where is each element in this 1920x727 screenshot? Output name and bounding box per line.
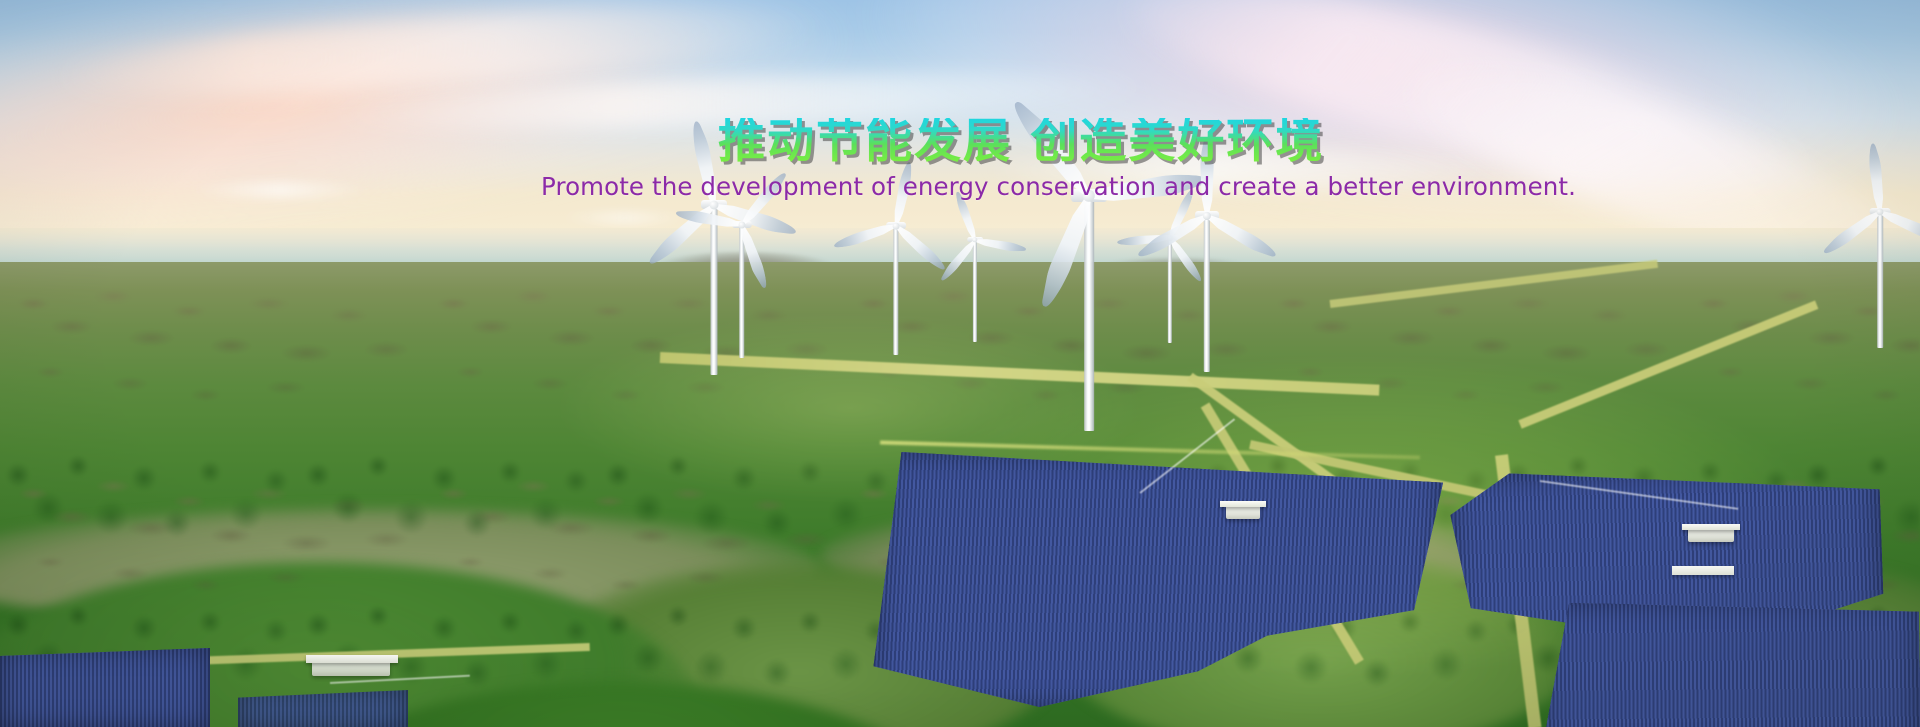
building-roof	[1220, 501, 1266, 507]
cloud-wisp	[560, 212, 690, 224]
turbine-tower	[1204, 216, 1210, 372]
solar-array-left-edge	[0, 648, 210, 727]
building-roof	[1682, 524, 1740, 530]
substation-building-center	[1226, 505, 1260, 519]
turbine-tower	[739, 225, 744, 358]
solar-array-right-lower	[1539, 597, 1920, 727]
building-roof	[306, 655, 398, 663]
turbine-tower	[1084, 196, 1094, 431]
turbine-hub	[893, 223, 900, 230]
turbine-tower	[711, 205, 718, 375]
turbine-tower	[893, 226, 898, 355]
cloud-wisp	[190, 182, 370, 198]
turbine-tower	[1168, 238, 1172, 343]
turbine-tower	[973, 240, 977, 342]
hero-banner: 推动节能发展 创造美好环境 Promote the development of…	[0, 0, 1920, 727]
turbine-hub	[710, 201, 719, 210]
canopy-structure-right	[1672, 566, 1734, 575]
page-subtitle-english: Promote the development of energy conser…	[541, 172, 1576, 201]
turbine-hub	[738, 221, 745, 228]
page-title-chinese: 推动节能发展 创造美好环境	[718, 118, 1324, 165]
turbine-tower	[1877, 212, 1883, 348]
